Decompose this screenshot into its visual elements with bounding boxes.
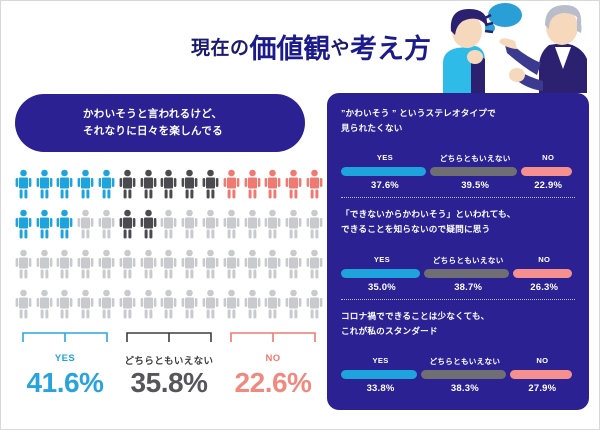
pictogram-figure-filled xyxy=(13,164,34,204)
question-text-line2: 見られたくない xyxy=(341,121,575,136)
question-item: ”かわいそう ” というステレオタイプで見られたくないYESどちらともいえないN… xyxy=(341,106,575,197)
pictogram-figure-filled xyxy=(304,164,325,204)
pictogram-figure-empty xyxy=(304,204,325,244)
question-item: 「できないからかわいそう」といわれても、できることを知らないので疑問に思うYES… xyxy=(341,197,575,298)
bar-value-yes: 35.0% xyxy=(341,282,423,293)
bar-label-neither: どちらともいえない xyxy=(420,356,510,367)
pictogram-figure-empty xyxy=(75,284,96,324)
bar-label-no: NO xyxy=(521,153,575,164)
pictogram-figure-empty xyxy=(242,204,263,244)
pictogram-figure-filled xyxy=(263,164,284,204)
left-headline-line1: かわいそうと言われるけど、 xyxy=(83,106,305,123)
bar-segment-yes xyxy=(341,167,426,176)
bracket-yes xyxy=(13,331,117,347)
pictogram-figure-filled xyxy=(221,164,242,204)
question-text-line1: ”かわいそう ” というステレオタイプで xyxy=(341,106,575,121)
question-text-line1: コロナ禍でできることは少なくても、 xyxy=(341,309,575,324)
pictogram-figure-empty xyxy=(304,284,325,324)
pictogram-figure-empty xyxy=(263,204,284,244)
bar-label-neither: どちらともいえない xyxy=(429,153,521,164)
bar-value-no: 27.9% xyxy=(510,383,575,394)
bar-segment-yes xyxy=(341,269,420,278)
question-item: コロナ禍でできることは少なくても、これが私のスタンダードYESどちらともいえない… xyxy=(341,299,575,400)
bar-segment-no xyxy=(513,269,572,278)
left-column-values: 41.6% 35.8% 22.6% xyxy=(13,367,325,407)
pictogram-figure-empty xyxy=(179,244,200,284)
pictogram-figure-filled xyxy=(242,164,263,204)
value-neither: 35.8% xyxy=(117,367,221,407)
question-bar-chart: YESどちらともいえないNO35.0%38.7%26.3% xyxy=(341,255,575,299)
bar-segment-neither xyxy=(430,167,517,176)
two-people-conversation-illustration xyxy=(431,1,599,93)
pictogram-figure-empty xyxy=(200,244,221,284)
pictogram-figure-filled xyxy=(34,164,55,204)
question-text-line2: できることを知らないので疑問に思う xyxy=(341,222,575,237)
pictogram-figure-empty xyxy=(283,244,304,284)
pictogram-figure-empty xyxy=(263,284,284,324)
pictogram-figure-empty xyxy=(179,204,200,244)
pictogram-figure-empty xyxy=(117,284,138,324)
pictogram-figure-empty xyxy=(221,284,242,324)
bar-value-neither: 39.5% xyxy=(429,180,521,191)
title-main2: 考え方 xyxy=(350,27,431,66)
question-bar-chart: YESどちらともいえないNO33.8%38.3%27.9% xyxy=(341,356,575,400)
bar-value-yes: 33.8% xyxy=(341,383,420,394)
pictogram-figure-empty xyxy=(13,284,34,324)
title-prefix: 現在の xyxy=(191,33,250,60)
pictogram-figure-empty xyxy=(34,244,55,284)
bar-value-neither: 38.3% xyxy=(420,383,510,394)
pictogram-figure-filled xyxy=(179,164,200,204)
pictogram-figure-filled xyxy=(117,204,138,244)
pictogram-figure-empty xyxy=(138,284,159,324)
question-bar-chart: YESどちらともいえないNO37.6%39.5%22.9% xyxy=(341,153,575,197)
bar-label-no: NO xyxy=(510,356,575,367)
pictogram-figure-filled xyxy=(55,204,76,244)
pictogram-figure-empty xyxy=(159,204,180,244)
bar-segment-neither xyxy=(424,269,510,278)
pictogram-figure-filled xyxy=(283,164,304,204)
pictogram-figure-empty xyxy=(55,244,76,284)
left-headline-pill: かわいそうと言われるけど、 それなりに日々を楽しんでる xyxy=(15,94,305,152)
pictogram-figure-filled xyxy=(75,164,96,204)
question-text-line2: これが私のスタンダード xyxy=(341,324,575,339)
pictogram-figure-empty xyxy=(117,244,138,284)
pictogram-figure-empty xyxy=(200,204,221,244)
left-headline-line2: それなりに日々を楽しんでる xyxy=(83,123,305,140)
pictogram-figure-empty xyxy=(159,244,180,284)
pictogram-chart xyxy=(13,164,325,324)
page-title: 現在の価値観や考え方 xyxy=(186,25,436,67)
pictogram-figure-filled xyxy=(96,164,117,204)
bar-label-yes: YES xyxy=(341,255,423,266)
pictogram-figure-empty xyxy=(75,244,96,284)
pictogram-figure-filled xyxy=(13,204,34,244)
bracket-row xyxy=(13,331,325,347)
pictogram-figure-empty xyxy=(221,244,242,284)
pictogram-figure-empty xyxy=(55,284,76,324)
bar-label-neither: どちらともいえない xyxy=(423,255,514,266)
pictogram-group-neither xyxy=(117,164,221,324)
bracket-no xyxy=(221,331,325,347)
bar-label-yes: YES xyxy=(341,153,429,164)
bar-label-no: NO xyxy=(513,255,575,266)
pictogram-figure-filled xyxy=(117,164,138,204)
value-yes: 41.6% xyxy=(13,367,117,407)
title-mid: や xyxy=(331,33,351,60)
pictogram-figure-empty xyxy=(13,244,34,284)
pictogram-figure-filled xyxy=(138,164,159,204)
pictogram-figure-empty xyxy=(75,204,96,244)
pictogram-figure-empty xyxy=(96,284,117,324)
pictogram-figure-empty xyxy=(242,284,263,324)
pictogram-figure-empty xyxy=(263,244,284,284)
pictogram-figure-empty xyxy=(159,284,180,324)
bar-segment-no xyxy=(521,167,572,176)
pictogram-figure-filled xyxy=(34,204,55,244)
pictogram-figure-empty xyxy=(221,204,242,244)
pictogram-figure-empty xyxy=(304,244,325,284)
bracket-neither xyxy=(117,331,221,347)
pictogram-figure-empty xyxy=(138,244,159,284)
pictogram-figure-empty xyxy=(283,284,304,324)
pictogram-group-yes xyxy=(13,164,117,324)
value-no: 22.6% xyxy=(221,367,325,407)
pictogram-figure-filled xyxy=(138,204,159,244)
bar-segment-yes xyxy=(341,370,417,379)
pictogram-figure-empty xyxy=(34,284,55,324)
title-main: 価値観 xyxy=(250,27,331,66)
bar-label-yes: YES xyxy=(341,356,420,367)
bar-value-yes: 37.6% xyxy=(341,180,429,191)
pictogram-figure-empty xyxy=(179,284,200,324)
pictogram-figure-filled xyxy=(159,164,180,204)
pictogram-figure-filled xyxy=(200,164,221,204)
pictogram-group-no xyxy=(221,164,325,324)
bar-value-no: 26.3% xyxy=(513,282,575,293)
right-questions-panel: ”かわいそう ” というステレオタイプで見られたくないYESどちらともいえないN… xyxy=(327,93,589,410)
infographic-page: 現在の価値観や考え方 かわいそうと言われるけど、 それなりに日々を楽しんでる Y… xyxy=(1,1,599,429)
pictogram-figure-empty xyxy=(96,204,117,244)
bar-segment-neither xyxy=(421,370,506,379)
pictogram-figure-empty xyxy=(200,284,221,324)
bar-segment-no xyxy=(510,370,572,379)
bar-value-neither: 38.7% xyxy=(423,282,514,293)
pictogram-figure-empty xyxy=(242,244,263,284)
question-text-line1: 「できないからかわいそう」といわれても、 xyxy=(341,207,575,222)
pictogram-figure-empty xyxy=(96,244,117,284)
pictogram-figure-filled xyxy=(55,164,76,204)
bar-value-no: 22.9% xyxy=(521,180,575,191)
pictogram-figure-empty xyxy=(283,204,304,244)
